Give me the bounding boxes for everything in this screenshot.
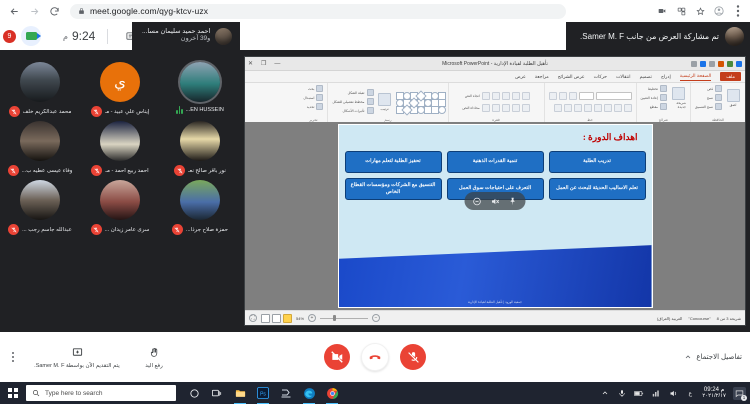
slide: اهداف الدورة : تدريب الطلبة تنمية القدرا… [338, 124, 653, 308]
back-arrow-icon[interactable] [4, 1, 24, 21]
ribbon-group-slides: شريحة جديدة تخطيط إعادة التعيين مقطع شرا… [636, 83, 691, 123]
shape-fill-button[interactable]: تعبئة الشكل [332, 89, 373, 96]
font-controls-row-1 [549, 92, 632, 100]
clear-formatting-button[interactable] [549, 92, 557, 100]
camera-off-icon [330, 350, 344, 364]
format-painter-button[interactable]: نسخ التنسيق [695, 103, 722, 110]
tab-file[interactable]: ملف [720, 72, 741, 81]
mic-off-icon [172, 224, 183, 235]
participant-tile[interactable]: سرى عامر زيدان ... [84, 180, 156, 235]
url-text: meet.google.com/qyg-ktcv-uzx [90, 6, 208, 16]
avatar [180, 62, 220, 102]
clock-date: ٢٠٢١/٢/١٧ [702, 393, 726, 399]
bullets-button[interactable] [522, 92, 530, 100]
participant-name: عبدالله جاسم رجب ... [22, 227, 72, 233]
tab-home[interactable]: الصفحة الرئيسية [680, 73, 712, 81]
presenter-chip-text: احمد حميد سليمان مسا... و39 آخرون [142, 29, 210, 43]
participant-grid: محمد عبدالكريم خلف ي إيناس علي عبيد - مـ [0, 50, 240, 332]
participant-name-line: إيناس علي عبيد - مـ [84, 106, 156, 117]
objective-box[interactable]: تحفيز الطلبة لتعلم مهارات [345, 151, 442, 173]
ribbon-group-font: خط [544, 83, 636, 123]
justify-button[interactable] [492, 104, 500, 112]
shape-effects-button[interactable]: تأثيرات الأشكال [332, 107, 373, 114]
meeting-details-label: تفاصيل الاجتماع [696, 353, 742, 361]
help-icon[interactable] [691, 61, 697, 67]
forward-arrow-icon[interactable] [24, 1, 44, 21]
meeting-details-button[interactable]: تفاصيل الاجتماع [684, 332, 742, 382]
svg-text:Ps: Ps [260, 391, 266, 397]
shared-screen-area[interactable]: ✕ ❐ — تأهيل الطلبة لقيادة الإدارية - Mic… [240, 50, 750, 332]
search-input[interactable]: Type here to search [26, 385, 176, 401]
font-family-select[interactable] [596, 92, 632, 100]
mic-off-icon [91, 106, 102, 117]
participant-name: احمد ربيع احمد - مـ [105, 168, 148, 174]
slide-canvas[interactable]: اهداف الدورة : تدريب الطلبة تنمية القدرا… [245, 122, 745, 310]
change-case-button[interactable] [564, 104, 572, 112]
notification-count: 1 [741, 395, 747, 401]
action-center-icon[interactable]: 1 [733, 387, 746, 400]
chevron-up-icon [684, 353, 692, 361]
participant-tile[interactable]: عبدالله جاسم رجب ... [4, 180, 76, 235]
battery-icon[interactable] [634, 388, 644, 398]
mic-off-button[interactable] [400, 344, 426, 370]
participant-name-line: احمد ربيع احمد - مـ [84, 165, 156, 176]
account-icon[interactable] [700, 61, 706, 67]
mic-off-icon [174, 165, 185, 176]
paste-button[interactable]: لصق [725, 85, 741, 111]
columns-button[interactable] [482, 104, 490, 112]
slide-sorter-icon[interactable] [272, 314, 281, 323]
status-left-group: شريحة 3 من 8 "Concourse" العربية (العراق… [657, 316, 741, 321]
zoom-out-button[interactable]: − [372, 314, 380, 322]
section-button[interactable]: مقطع [641, 103, 668, 110]
mute-icon[interactable] [491, 197, 500, 206]
share-note-text: تم مشاركة العرض من جانب Samer M. F. [580, 32, 719, 41]
close-icon[interactable]: ✕ [248, 60, 253, 67]
browser-nav-buttons [0, 1, 64, 21]
participant-name-line: نور باقر صالح نعـ [164, 165, 236, 176]
presenter-chip[interactable]: احمد حميد سليمان مسا... و39 آخرون [132, 22, 240, 50]
ribbon-group-paragraph: اتجاه النص محاذاة النص فقرة [448, 83, 544, 123]
minimize-presentation-icon[interactable] [473, 197, 482, 206]
mic-off-icon [9, 106, 20, 117]
slide-title: اهداف الدورة : [583, 132, 638, 143]
participant-tile[interactable]: محمد عبدالكريم خلف [4, 62, 76, 117]
tab-animations[interactable]: حركات [594, 74, 607, 80]
mic-off-icon [8, 224, 19, 235]
avatar: ي [100, 62, 140, 102]
tab-transitions[interactable]: انتقالات [616, 74, 631, 80]
participant-name-line: ...EN HUSSEIN [164, 106, 236, 114]
layout-label: تخطيط [648, 87, 658, 91]
participant-tile[interactable]: وفاء عيسى عطيه ب... [4, 121, 76, 176]
paragraph-controls-row-2: محاذاة النص [462, 104, 529, 112]
restore-icon[interactable]: ❐ [261, 60, 266, 67]
new-slide-button[interactable]: شريحة جديدة [670, 85, 686, 111]
reading-view-icon[interactable] [283, 314, 292, 323]
participant-name: سرى عامر زيدان ... [105, 227, 150, 233]
font-size-select[interactable] [579, 92, 594, 100]
google-chrome-icon[interactable] [325, 386, 339, 400]
audio-level-icon [176, 106, 183, 114]
tab-view[interactable]: عرض [515, 74, 526, 80]
show-hidden-icons-chevron[interactable] [600, 388, 610, 398]
copy-icon [715, 94, 722, 101]
windows-start-icon[interactable] [0, 382, 26, 404]
bold-button[interactable] [624, 104, 632, 112]
pin-icon[interactable] [509, 197, 518, 206]
participant-tile[interactable]: ي إيناس علي عبيد - مـ [84, 62, 156, 117]
replace-label: استبدال [303, 96, 314, 100]
copy-label: نسخ [707, 96, 713, 100]
bookmark-star-icon[interactable] [694, 5, 706, 17]
increase-font-size-button[interactable] [569, 92, 577, 100]
shape-outline-label: مخطط تفصيلي للشكل [332, 100, 364, 104]
layout-button[interactable]: تخطيط [641, 85, 668, 92]
hangup-button[interactable] [361, 343, 389, 371]
microsoft-edge-icon[interactable] [302, 386, 316, 400]
clock-time: 09:24 م [704, 387, 724, 394]
shape-fill-label: تعبئة الشكل [348, 91, 365, 95]
strikethrough-button[interactable] [584, 104, 592, 112]
find-button[interactable]: بحث [303, 85, 323, 92]
presentation-overlay-controls [465, 192, 526, 210]
downloads-icon[interactable] [279, 386, 293, 400]
extension-badge: 9 [3, 30, 16, 43]
shapes-gallery[interactable] [396, 92, 444, 112]
browser-toolbar: meet.google.com/qyg-ktcv-uzx [0, 0, 750, 22]
font-color-button[interactable] [554, 104, 562, 112]
file-explorer-icon[interactable] [233, 386, 247, 400]
tab-review[interactable]: مراجعة [535, 74, 549, 80]
copy-button[interactable]: نسخ [695, 94, 722, 101]
chrome-menu-icon[interactable] [732, 5, 744, 17]
paragraph-controls-row-1: اتجاه النص [462, 92, 529, 100]
shape-outline-button[interactable]: مخطط تفصيلي للشكل [332, 98, 373, 105]
participant-name: وفاء عيسى عطيه ب... [22, 168, 73, 174]
shape-fill-icon [367, 89, 374, 96]
line-spacing-button[interactable] [482, 92, 490, 100]
presenter-avatar [725, 27, 744, 46]
control-bar-center [0, 332, 750, 382]
font-controls-row-2 [549, 104, 632, 112]
ribbon-options-icon[interactable] [709, 61, 715, 67]
participant-name: محمد عبدالكريم خلف [23, 109, 72, 115]
minimize-icon[interactable]: — [274, 61, 280, 67]
participant-name-line: حمزة صلاح جرذا... [164, 224, 236, 235]
find-icon [316, 85, 323, 92]
lock-icon [78, 2, 85, 20]
new-slide-label: شريحة جديدة [670, 101, 686, 109]
media-cast-icon[interactable] [656, 5, 668, 17]
participant-tile[interactable]: ...EN HUSSEIN [164, 62, 236, 114]
objective-box[interactable]: تعلم الاساليب الحديثة للبحث عن العمل [549, 178, 646, 200]
address-bar[interactable]: meet.google.com/qyg-ktcv-uzx [70, 4, 566, 19]
tab-design[interactable]: تصميم [640, 74, 652, 80]
align-text-label: محاذاة النص [462, 106, 479, 110]
quick-access-toolbar[interactable] [691, 57, 742, 70]
search-icon [32, 384, 40, 402]
save-icon[interactable] [727, 61, 733, 67]
numbering-button[interactable] [512, 92, 520, 100]
new-slide-icon [672, 87, 685, 100]
clock-time: 9:24 [72, 29, 95, 43]
mic-off-icon [91, 165, 102, 176]
ribbon-tabs: ملف الصفحة الرئيسية إدراج تصميم انتقالات… [245, 71, 745, 83]
system-tray: ع 09:24 م ٢٠٢١/٢/١٧ 1 [600, 387, 750, 400]
meet-stage: محمد عبدالكريم خلف ي إيناس علي عبيد - مـ [0, 50, 750, 332]
ribbon-group-drawing: ترتيب تعبئة الشكل مخطط تفصيلي للشكل تأثي… [327, 83, 447, 123]
find-label: بحث [308, 87, 314, 91]
taskbar-app-icons: Ps [187, 386, 339, 400]
status-right-group: − + 54% ⛶ [249, 314, 380, 323]
screen: meet.google.com/qyg-ktcv-uzx 9 [0, 0, 750, 404]
objective-box[interactable]: تدريب الطلبة [549, 151, 646, 173]
volume-icon[interactable] [668, 388, 678, 398]
participant-name: حمزة صلاح جرذا... [186, 227, 228, 233]
zoom-level-text: 54% [296, 316, 304, 321]
reset-icon [660, 94, 667, 101]
presenter-chip-avatar [215, 28, 232, 45]
participant-tile[interactable]: نور باقر صالح نعـ [164, 121, 236, 176]
text-direction-label: اتجاه النص [465, 94, 480, 98]
photoshop-icon[interactable]: Ps [256, 386, 270, 400]
arrange-button[interactable]: ترتيب [377, 89, 393, 115]
avatar [100, 121, 140, 161]
align-center-button[interactable] [512, 104, 520, 112]
participant-name: ...EN HUSSEIN [186, 107, 224, 113]
zoom-slider[interactable] [320, 318, 368, 319]
participant-name-line: عبدالله جاسم رجب ... [4, 224, 76, 235]
theme-text: "Concourse" [688, 316, 710, 321]
participant-tile[interactable]: احمد ربيع احمد - مـ [84, 121, 156, 176]
italic-button[interactable] [614, 104, 622, 112]
character-spacing-button[interactable] [574, 104, 582, 112]
arrange-icon [378, 93, 391, 106]
align-left-button[interactable] [502, 104, 510, 112]
toolbar-divider [107, 29, 108, 44]
language-icon[interactable]: ع [685, 388, 695, 398]
participant-row: وفاء عيسى عطيه ب... احمد ربيع احمد - مـ [0, 121, 240, 176]
paste-icon [727, 89, 740, 102]
powerpoint-title-text: تأهيل الطلبة لقيادة الإدارية - Microsoft… [442, 61, 548, 67]
participant-name-line: سرى عامر زيدان ... [84, 224, 156, 235]
taskbar-clock[interactable]: 09:24 م ٢٠٢١/٢/١٧ [702, 387, 726, 400]
objectives-row: تدريب الطلبة تنمية القدرات الذهنية تحفيز… [345, 151, 646, 173]
presenter-chip-subtext: و39 آخرون [181, 36, 211, 43]
shape-effects-icon [367, 107, 374, 114]
participant-name-line: محمد عبدالكريم خلف [4, 106, 76, 117]
arrange-label: ترتيب [380, 107, 388, 111]
powerpoint-window: ✕ ❐ — تأهيل الطلبة لقيادة الإدارية - Mic… [244, 56, 746, 326]
network-icon[interactable] [651, 388, 661, 398]
align-right-button[interactable] [522, 104, 530, 112]
powerpoint-title-bar: ✕ ❐ — تأهيل الطلبة لقيادة الإدارية - Mic… [245, 57, 745, 71]
participant-row: عبدالله جاسم رجب ... سرى عامر زيدان ... [0, 180, 240, 235]
reload-icon[interactable] [44, 1, 64, 21]
underline-button[interactable] [604, 104, 612, 112]
ribbon: لصق قص نسخ نسخ التنسيق الحافظة [245, 83, 745, 124]
fit-slide-button[interactable]: ⛶ [249, 314, 257, 322]
mic-off-icon [407, 351, 420, 364]
reset-button[interactable]: إعادة التعيين [641, 94, 668, 101]
shape-outline-icon [367, 98, 374, 105]
hangup-icon [368, 350, 382, 364]
extensions-icon[interactable] [675, 5, 687, 17]
increase-indent-button[interactable] [492, 92, 500, 100]
avatar [180, 180, 220, 220]
windows-taskbar: Type here to search Ps [0, 382, 750, 404]
meeting-clock: م 9:24 [63, 29, 95, 43]
slide-footer-text: جمعية الورود | تأهيل الطلبة لقيادة الإدا… [339, 300, 652, 304]
presentation-share-banner: تم مشاركة العرض من جانب Samer M. F. [566, 22, 750, 50]
reset-label: إعادة التعيين [641, 96, 659, 100]
decrease-indent-button[interactable] [502, 92, 510, 100]
ribbon-group-editing: بحث استبدال تحديد تحرير [299, 83, 327, 123]
ribbon-group-clipboard: لصق قص نسخ نسخ التنسيق الحافظة [690, 83, 745, 123]
participant-name: إيناس علي عبيد - مـ [105, 109, 150, 115]
google-meet-logo-icon [21, 26, 41, 46]
profile-icon[interactable] [713, 5, 725, 17]
mic-off-icon [8, 165, 19, 176]
avatar [100, 180, 140, 220]
avatar [180, 121, 220, 161]
format-painter-icon [715, 103, 722, 110]
tab-insert[interactable]: إدراج [661, 74, 671, 80]
cortana-icon[interactable] [187, 386, 201, 400]
view-mode-buttons[interactable] [261, 314, 292, 323]
participant-tile[interactable]: حمزة صلاح جرذا... [164, 180, 236, 235]
select-label: تحديد [307, 105, 315, 109]
avatar [20, 62, 60, 102]
zoom-in-button[interactable]: + [308, 314, 316, 322]
window-controls[interactable]: ✕ ❐ — [248, 57, 280, 70]
replace-icon [316, 94, 323, 101]
section-label: مقطع [650, 105, 658, 109]
select-button[interactable]: تحديد [303, 103, 323, 110]
paste-label: لصق [730, 103, 737, 107]
select-icon [316, 103, 323, 110]
section-icon [660, 103, 667, 110]
objective-box[interactable]: تنمية القدرات الذهنية [447, 151, 544, 173]
powerpoint-app-icon [736, 61, 742, 67]
participant-name: نور باقر صالح نعـ [188, 168, 226, 174]
cut-label: قص [707, 87, 713, 91]
language-text[interactable]: العربية (العراق) [657, 316, 682, 321]
shape-effects-label: تأثيرات الأشكال [343, 109, 365, 113]
undo-icon[interactable] [718, 61, 724, 67]
layout-icon [660, 85, 667, 92]
slide-footer-band: جمعية الورود | تأهيل الطلبة لقيادة الإدا… [339, 245, 652, 307]
participant-row: محمد عبدالكريم خلف ي إيناس علي عبيد - مـ [0, 62, 240, 117]
slide-info-text: شريحة 3 من 8 [717, 316, 741, 321]
replace-button[interactable]: استبدال [303, 94, 323, 101]
avatar [20, 121, 60, 161]
browser-toolbar-icons [656, 5, 750, 17]
task-view-icon[interactable] [210, 386, 224, 400]
mic-off-icon [91, 224, 102, 235]
decrease-font-size-button[interactable] [559, 92, 567, 100]
shadow-button[interactable] [594, 104, 602, 112]
camera-off-button[interactable] [324, 344, 350, 370]
cut-icon [715, 85, 722, 92]
objective-box[interactable]: التنسيق مع الشركات ومؤسسات القطاع الخاص [345, 178, 442, 200]
microphone-icon[interactable] [617, 388, 627, 398]
tab-slideshow[interactable]: عرض الشرائح [558, 74, 585, 80]
avatar [20, 180, 60, 220]
participant-name-line: وفاء عيسى عطيه ب... [4, 165, 76, 176]
normal-view-icon[interactable] [261, 314, 270, 323]
meet-top-bar: 9 م 9:24 51 احمد حميد سليمان مسا... و39 … [0, 22, 750, 50]
clock-meridiem: م [63, 32, 68, 41]
meet-control-bar: يتم التقديم الآن بواسطة Samer M. F. رفع … [0, 332, 750, 382]
format-painter-label: نسخ التنسيق [695, 105, 713, 109]
avatar-initial: ي [114, 73, 126, 91]
cut-button[interactable]: قص [695, 85, 722, 92]
search-placeholder-text: Type here to search [45, 390, 102, 397]
powerpoint-status-bar: شريحة 3 من 8 "Concourse" العربية (العراق… [245, 310, 745, 325]
